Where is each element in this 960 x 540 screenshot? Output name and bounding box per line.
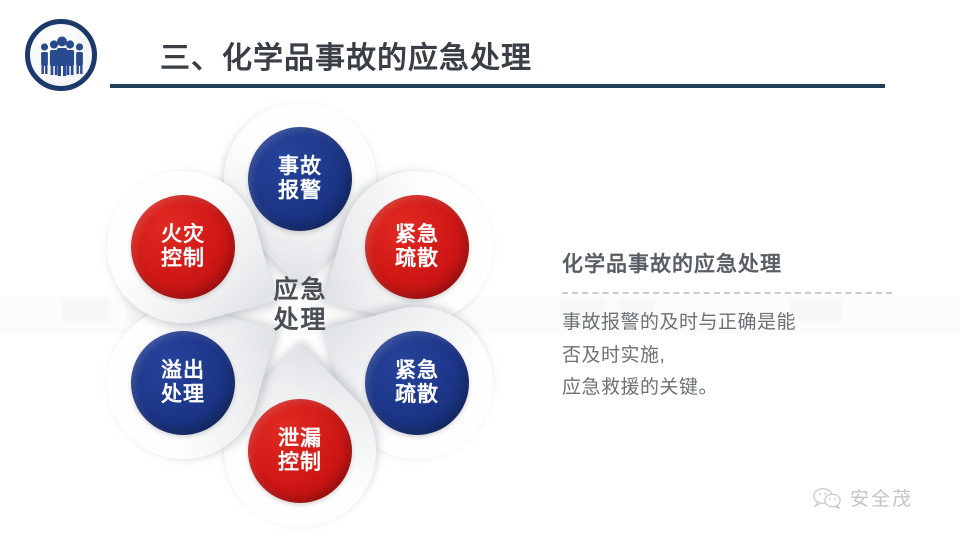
- panel-body-line: 应急救援的关键。: [562, 372, 892, 405]
- petal-label-line1: 紧急: [395, 359, 439, 383]
- petal-label-line2: 控制: [161, 247, 205, 271]
- center-label-line1: 应急: [273, 275, 327, 305]
- panel-dashed-divider: [562, 292, 892, 294]
- petal-label-line1: 泄漏: [278, 427, 322, 451]
- petal-label-line2: 控制: [278, 451, 322, 475]
- people-group-circle-icon: [25, 19, 97, 91]
- petal-label-line2: 疏散: [395, 383, 439, 407]
- title-underline-rule: [110, 84, 885, 88]
- petal-disc-accident-alarm[interactable]: 事故 报警: [248, 127, 352, 231]
- center-label-line2: 处理: [273, 305, 327, 335]
- panel-body-line: 否及时实施,: [562, 340, 892, 373]
- petal-label-line1: 溢出: [161, 359, 205, 383]
- emergency-response-petal-diagram: 事故 报警 紧急 疏散 紧急 疏散 泄漏 控制 溢出 处理 火灾: [65, 95, 535, 515]
- petal-label-line1: 事故: [278, 155, 322, 179]
- petal-label-line1: 火灾: [161, 223, 205, 247]
- panel-body-line: 事故报警的及时与正确是能: [562, 307, 892, 340]
- brand-watermark: 安全茂: [812, 484, 913, 511]
- people-group-glyph: [37, 35, 87, 77]
- panel-title: 化学品事故的应急处理: [562, 248, 892, 278]
- petal-label-line2: 报警: [278, 179, 322, 203]
- petal-disc-leak-control[interactable]: 泄漏 控制: [248, 399, 352, 503]
- petal-label-line2: 处理: [161, 383, 205, 407]
- petal-disc-emergency-evac-bottom[interactable]: 紧急 疏散: [365, 331, 469, 435]
- petal-disc-spill-handling[interactable]: 溢出 处理: [131, 331, 235, 435]
- description-panel: 化学品事故的应急处理 事故报警的及时与正确是能 否及时实施, 应急救援的关键。: [562, 248, 892, 405]
- page-title: 三、化学品事故的应急处理: [160, 33, 532, 77]
- slide-canvas: 三、化学品事故的应急处理 事故 报警 紧急 疏散 紧急 疏散 泄漏 控制: [0, 0, 960, 540]
- petal-label-line2: 疏散: [395, 247, 439, 271]
- petal-disc-emergency-evac-top[interactable]: 紧急 疏散: [365, 195, 469, 299]
- petal-disc-fire-control[interactable]: 火灾 控制: [131, 195, 235, 299]
- petal-label-line1: 紧急: [395, 223, 439, 247]
- diagram-center-label: 应急 处理: [223, 245, 378, 365]
- wechat-bubbles-icon: [812, 487, 842, 509]
- panel-body-text: 事故报警的及时与正确是能 否及时实施, 应急救援的关键。: [562, 307, 892, 405]
- brand-name: 安全茂: [850, 484, 913, 511]
